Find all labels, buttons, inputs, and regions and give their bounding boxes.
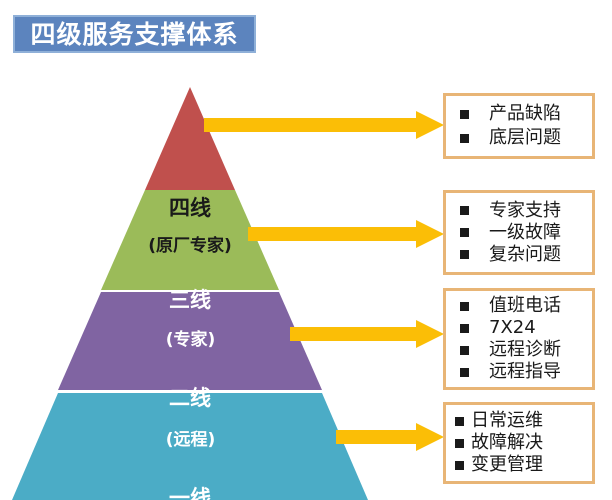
list-item: 变更管理 [455,456,592,474]
pyramid-tier-1-shape [12,393,368,500]
callout-item-label: 复杂问题 [489,246,561,264]
list-item: 专家支持 [460,202,592,220]
callout-item-label: 产品缺陷 [489,105,561,123]
pyramid-chart: 四线 (原厂专家) 三线 (专家) 二线 (远程) 一线 (现场) [0,80,380,500]
list-item: 日常运维 [455,412,592,430]
list-item: 远程诊断 [460,341,592,359]
callout-item-label: 故障解决 [471,434,543,452]
square-bullet-icon [455,417,464,426]
square-bullet-icon [460,134,469,143]
list-item: 远程指导 [460,363,592,381]
list-item: 一级故障 [460,224,592,242]
arrow-tier-3 [248,220,444,250]
pyramid-tier-2-shape [58,292,322,390]
square-bullet-icon [460,110,469,119]
square-bullet-icon [460,302,469,311]
list-item: 故障解决 [455,434,592,452]
list-item: 产品缺陷 [460,105,592,123]
callout-box-tier-1: 日常运维 故障解决 变更管理 [443,402,595,484]
list-item: 底层问题 [460,129,592,147]
square-bullet-icon [460,368,469,377]
callout-item-label: 一级故障 [489,224,561,242]
callout-item-label: 变更管理 [471,456,543,474]
arrow-tier-2 [290,320,444,350]
callout-item-label: 专家支持 [489,202,561,220]
square-bullet-icon [460,228,469,237]
list-item: 复杂问题 [460,246,592,264]
callout-box-tier-3: 专家支持 一级故障 复杂问题 [443,190,595,275]
callout-item-label: 远程诊断 [489,341,561,359]
list-item: 7X24 [460,319,592,337]
arrow-tier-1 [336,423,444,453]
square-bullet-icon [460,250,469,259]
square-bullet-icon [455,439,464,448]
callout-box-tier-2: 值班电话 7X24 远程诊断 远程指导 [443,288,595,390]
list-item: 值班电话 [460,297,592,315]
square-bullet-icon [460,206,469,215]
callout-item-label: 日常运维 [471,412,543,430]
square-bullet-icon [460,346,469,355]
callout-box-tier-4: 产品缺陷 底层问题 [443,93,595,159]
page-title: 四级服务支撑体系 [30,22,238,47]
page-title-banner: 四级服务支撑体系 [13,15,256,53]
arrow-tier-4 [204,111,444,141]
callout-item-label: 7X24 [489,319,536,337]
diagram-canvas: 四级服务支撑体系 四线 (原厂专家) 三线 (专家) 二线 (远程) 一线 (现… [0,0,612,500]
square-bullet-icon [455,461,464,470]
callout-item-label: 值班电话 [489,297,561,315]
callout-item-label: 底层问题 [489,129,561,147]
callout-item-label: 远程指导 [489,363,561,381]
square-bullet-icon [460,324,469,333]
